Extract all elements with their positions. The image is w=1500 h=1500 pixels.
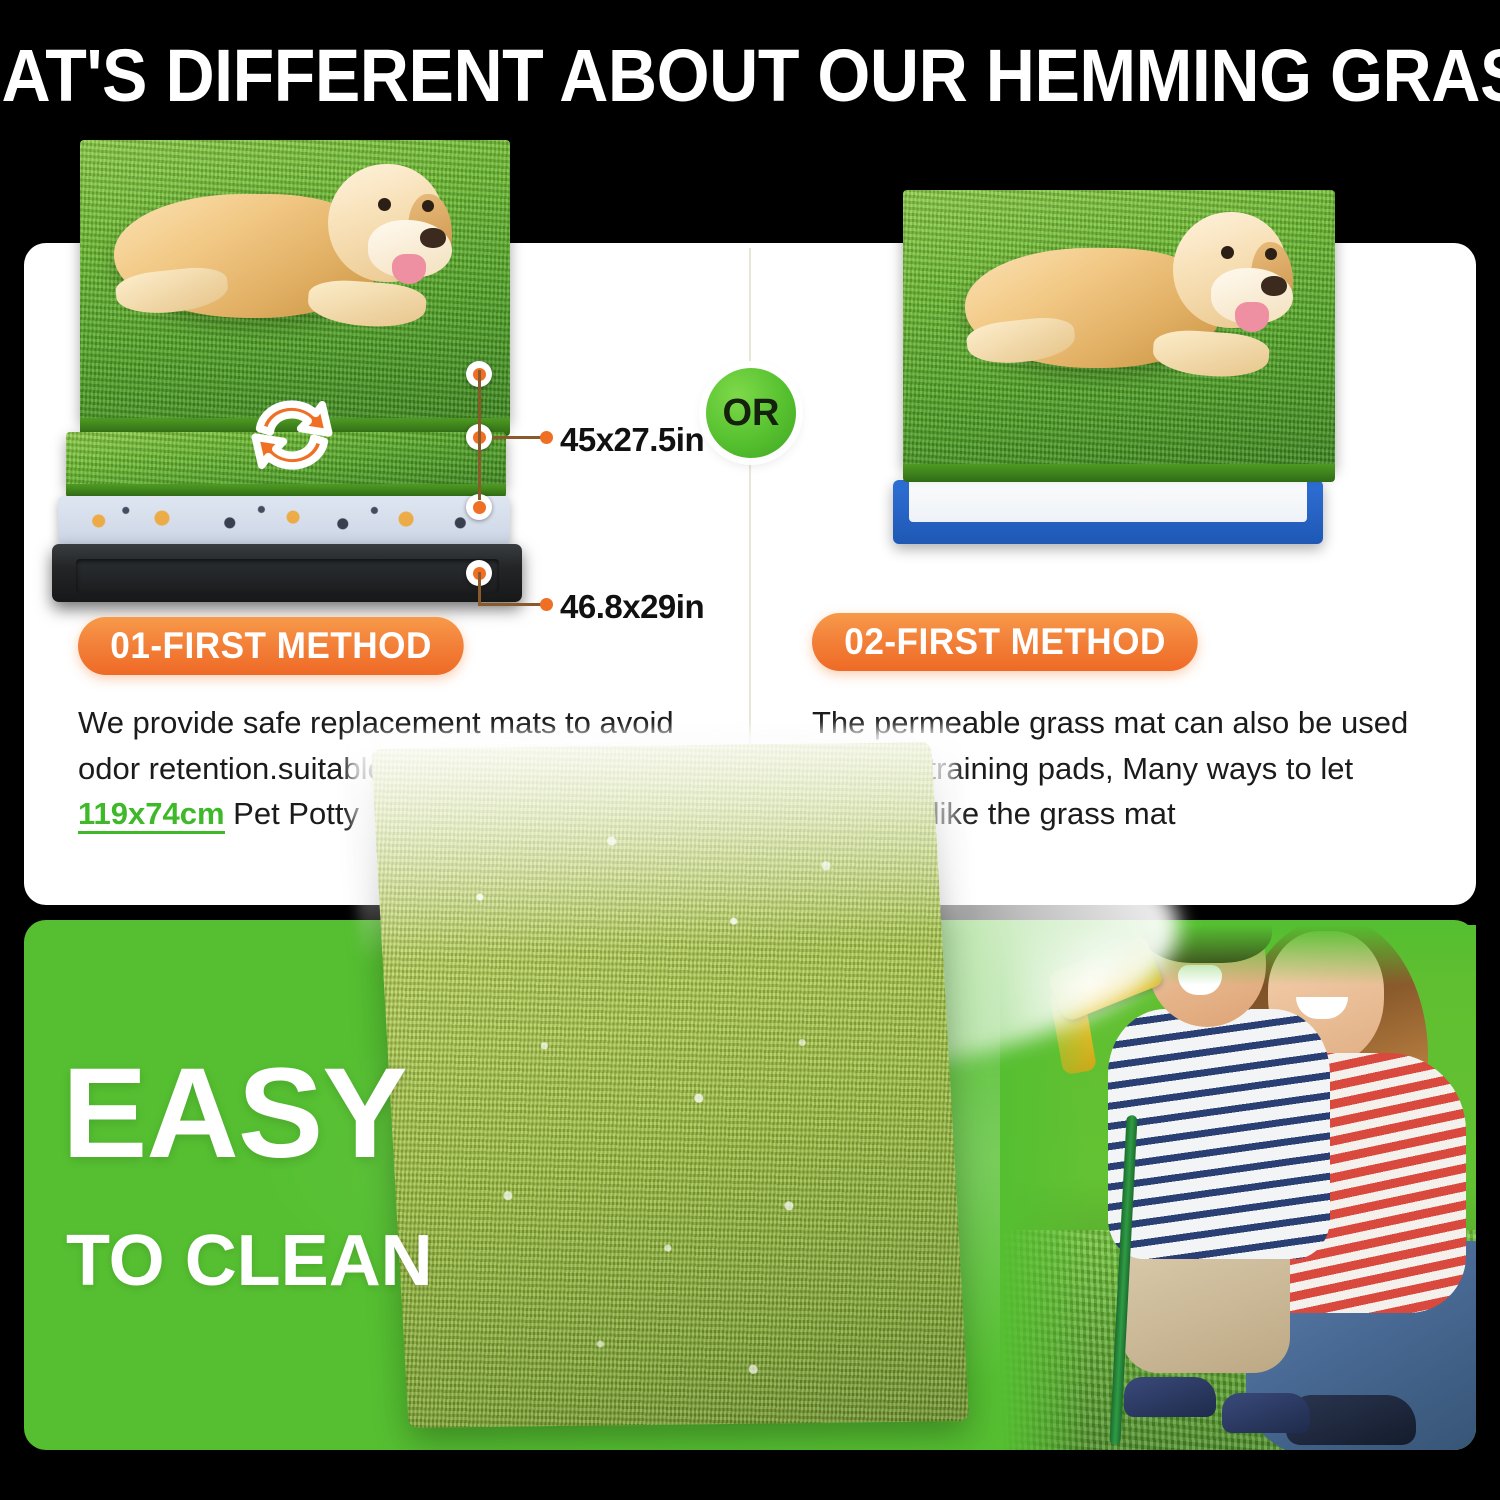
callout-line-vertical-top xyxy=(478,370,481,500)
dog-image xyxy=(92,142,492,342)
product-stack-left-image xyxy=(52,132,532,602)
callout-endpoint-tray xyxy=(540,598,553,611)
boy-striped-shirt xyxy=(1108,1009,1330,1259)
swap-arrows-icon xyxy=(238,385,346,485)
callout-line-tray xyxy=(478,603,544,606)
boy-sandal-right xyxy=(1222,1393,1310,1433)
infographic-root: WHAT'S DIFFERENT ABOUT OUR HEMMING GRASS… xyxy=(0,0,1500,1500)
wet-grass-mat-image xyxy=(371,742,969,1428)
page-title: WHAT'S DIFFERENT ABOUT OUR HEMMING GRASS… xyxy=(60,34,1440,118)
badge-method-02: 02-FIRST METHOD xyxy=(812,613,1198,671)
patterned-pad-layer xyxy=(58,496,510,544)
or-badge: OR xyxy=(706,368,796,458)
callout-endpoint-grass xyxy=(540,431,553,444)
boy-sandal-left xyxy=(1124,1377,1216,1417)
method-01-text-after: Pet Potty xyxy=(225,796,359,831)
product-stack-right-image xyxy=(875,168,1365,568)
callout-line-grass xyxy=(492,436,544,439)
badge-method-01: 01-FIRST METHOD xyxy=(78,617,464,675)
dimension-label-tray: 46.8x29in xyxy=(560,588,704,626)
callout-line-vertical-bottom xyxy=(478,572,481,606)
dimension-label-grass: 45x27.5in xyxy=(560,421,704,459)
grass-mat-right-edge xyxy=(903,464,1335,482)
to-clean-subheading: TO CLEAN xyxy=(66,1225,433,1297)
black-tray xyxy=(52,544,522,602)
easy-heading: EASY xyxy=(62,1050,407,1178)
dog-image-right xyxy=(947,194,1327,390)
